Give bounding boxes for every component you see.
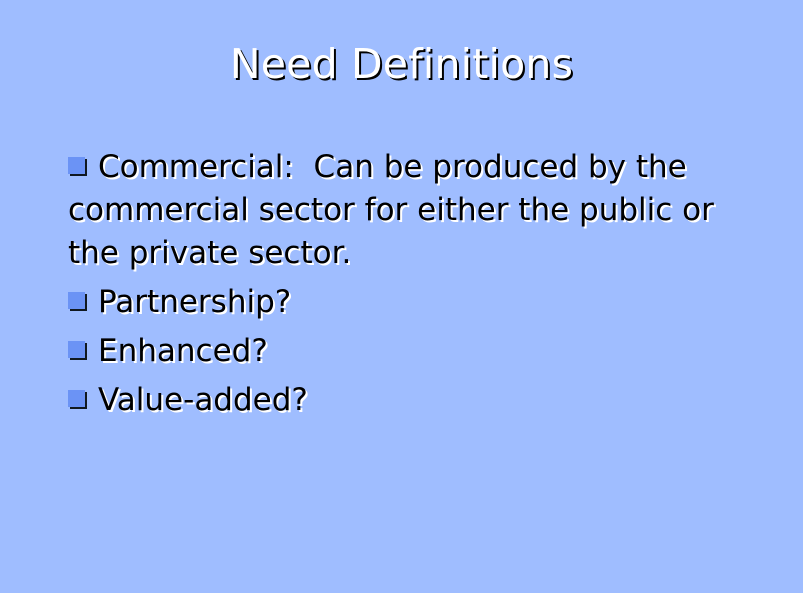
- list-item: Commercial: Can be produced by the comme…: [68, 146, 773, 275]
- square-bullet-icon: [68, 292, 85, 309]
- list-item-label: Value-added?: [98, 382, 308, 418]
- list-item: Value-added?: [68, 379, 773, 422]
- square-bullet-icon: [68, 390, 85, 407]
- square-bullet-icon: [68, 341, 85, 358]
- presentation-slide: Need Definitions Commercial: Can be prod…: [0, 0, 803, 593]
- list-item: Enhanced?: [68, 330, 773, 373]
- square-bullet-icon: [68, 157, 85, 174]
- list-item-label: Enhanced?: [98, 333, 268, 369]
- bullet-list: Commercial: Can be produced by the comme…: [68, 146, 773, 425]
- list-item-label: Commercial: Can be produced by the comme…: [68, 149, 724, 271]
- page-title: Need Definitions: [0, 38, 803, 90]
- list-item: Partnership?: [68, 281, 773, 324]
- list-item-label: Partnership?: [98, 284, 291, 320]
